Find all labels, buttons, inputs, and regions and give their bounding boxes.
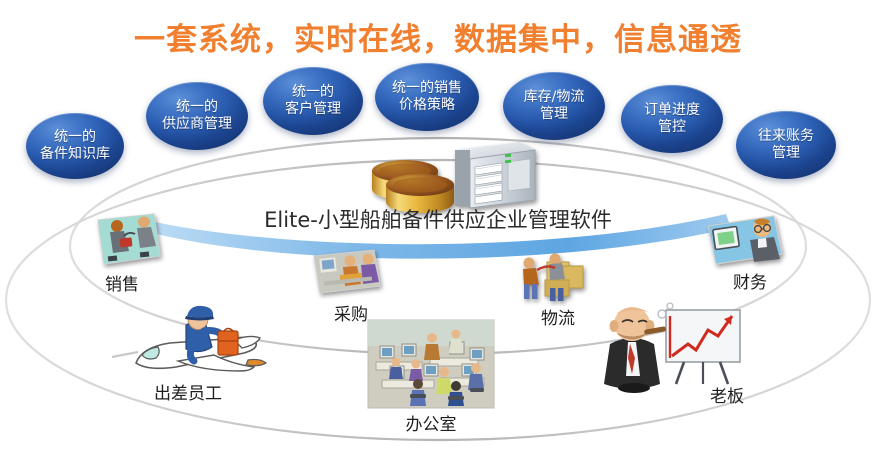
role-node-logistics[interactable]: 物流 [503,250,613,330]
bubble-line: 统一的 [40,129,110,146]
bubble-line: 备件知识库 [40,146,110,163]
role-node-boss[interactable]: 老板 [600,300,750,410]
role-label: 采购 [334,300,368,325]
role-label: 财务 [733,268,767,293]
role-node-finance[interactable]: 财务 [692,212,808,292]
role-node-sales[interactable]: 销售 [62,212,182,292]
sales-handshake-icon [62,212,182,272]
bubble-line: 管理 [524,106,585,123]
bubble-line: 往来账务 [758,128,814,145]
bubble-line: 统一的销售 [392,80,462,97]
bubble-line: 管理 [758,145,814,162]
bubble-line: 订单进度 [644,102,700,119]
bubble-line: 供应商管理 [162,116,232,133]
airplane-businessman-icon [112,305,282,389]
bubble-line: 库存/物流 [524,89,585,106]
logistics-workers-icon [503,250,613,306]
page-title: 一套系统，实时在线，数据集中，信息通透 [0,14,876,59]
feature-bubble-inventory-logistics[interactable]: 库存/物流 管理 [503,72,605,140]
purchasing-desk-icon [296,246,406,302]
office-cubicles-icon [366,318,496,412]
bubble-line: 统一的 [162,99,232,116]
role-label: 老板 [710,382,744,407]
bubble-line: 客户管理 [285,101,341,118]
feature-bubble-parts-knowledge[interactable]: 统一的 备件知识库 [26,113,124,179]
boss-presentation-icon [600,300,750,394]
feature-bubble-order-progress[interactable]: 订单进度 管控 [621,85,723,153]
bubble-line: 统一的 [285,84,341,101]
diagram-canvas: 一套系统，实时在线，数据集中，信息通透 [0,0,876,449]
bubble-line: 管控 [644,119,700,136]
server-tower-icon [455,142,535,208]
bubble-line: 价格策略 [392,97,462,114]
finance-cash-icon [692,212,808,270]
role-label: 物流 [541,304,575,329]
role-label: 出差员工 [154,379,222,404]
feature-bubble-supplier-mgmt[interactable]: 统一的 供应商管理 [146,82,248,150]
role-label: 办公室 [406,410,457,435]
feature-bubble-accounts[interactable]: 往来账务 管理 [736,111,836,179]
role-label: 销售 [105,270,139,295]
role-node-office[interactable]: 办公室 [366,318,496,428]
role-node-purchasing[interactable]: 采购 [296,246,406,326]
role-node-traveler[interactable]: 出差员工 [112,305,282,405]
feature-bubble-customer-mgmt[interactable]: 统一的 客户管理 [263,67,363,135]
feature-bubble-sales-pricing[interactable]: 统一的销售 价格策略 [375,63,479,131]
